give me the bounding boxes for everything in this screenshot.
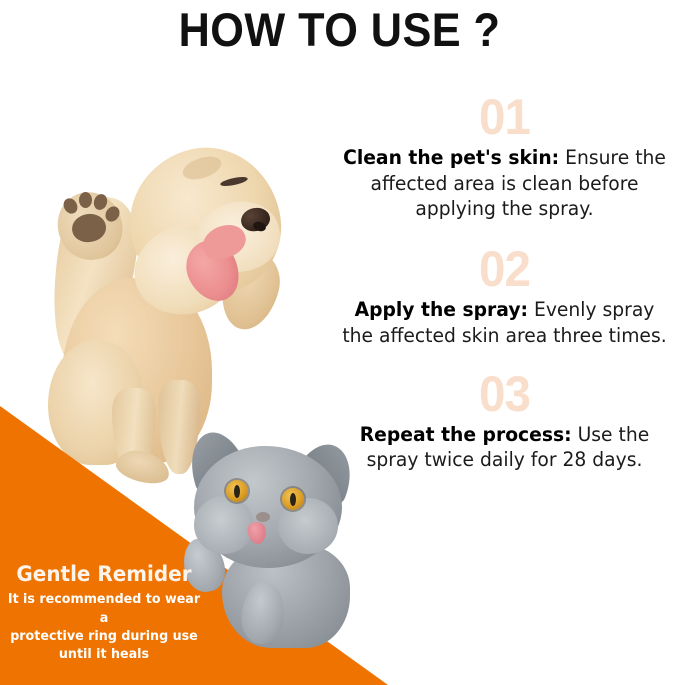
step-text-03: Repeat the process: Use the spray twice … bbox=[337, 422, 672, 473]
dog-illustration bbox=[10, 130, 300, 460]
cat-nose bbox=[256, 512, 270, 522]
step-heading-01: Clean the pet's skin: bbox=[343, 146, 559, 169]
gentle-reminder-line-3: until it heals bbox=[6, 645, 202, 663]
gentle-reminder-title: Gentle Remider bbox=[5, 562, 203, 586]
step-item-03: 03 Repeat the process: Use the spray twi… bbox=[330, 369, 679, 473]
step-number-01: 01 bbox=[339, 92, 671, 143]
steps-list: 01 Clean the pet's skin: Ensure the affe… bbox=[330, 92, 679, 473]
step-item-01: 01 Clean the pet's skin: Ensure the affe… bbox=[330, 92, 679, 222]
step-heading-02: Apply the spray: bbox=[355, 298, 528, 321]
gentle-reminder-line-2: protective ring during use bbox=[6, 627, 202, 645]
step-text-02: Apply the spray: Evenly spray the affect… bbox=[337, 297, 672, 348]
cat-left-cheek bbox=[194, 496, 254, 554]
how-to-use-poster: HOW TO USE ? Gentle Remider It is recomm… bbox=[0, 0, 679, 685]
page-title: HOW TO USE ? bbox=[27, 2, 652, 57]
dog-toe-pad bbox=[79, 192, 92, 208]
step-heading-03: Repeat the process: bbox=[360, 423, 572, 446]
cat-left-pupil bbox=[234, 485, 240, 498]
cat-right-pupil bbox=[290, 493, 296, 506]
step-item-02: 02 Apply the spray: Evenly spray the aff… bbox=[330, 244, 679, 348]
step-text-01: Clean the pet's skin: Ensure the affecte… bbox=[337, 145, 672, 222]
gentle-reminder-line-1: It is recommended to wear a bbox=[6, 590, 202, 627]
step-number-02: 02 bbox=[339, 244, 671, 295]
step-number-03: 03 bbox=[339, 369, 671, 420]
gentle-reminder-text-block: Gentle Remider It is recommended to wear… bbox=[0, 562, 208, 664]
